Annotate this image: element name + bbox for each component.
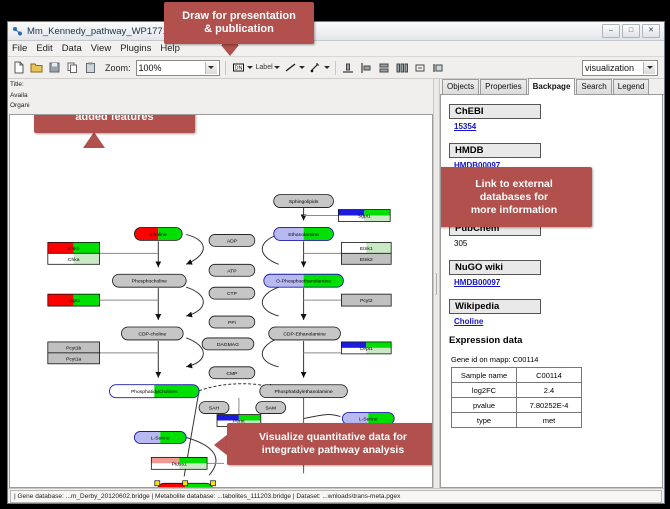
node-cdp-ethanolamine-label: CDP-Ethanolamine: [283, 331, 326, 337]
node-ethanolamine-top-label: Ethanolamine: [288, 232, 319, 238]
gene-pcyt1b-label: Pcyt1b: [66, 345, 81, 351]
menu-item-edit[interactable]: Edit: [35, 43, 53, 54]
node-choline-top[interactable]: Choline: [134, 227, 182, 240]
gene-id-line: Gene id on mapp: C00114: [451, 355, 662, 364]
node-ppi-label: PPi: [228, 320, 236, 326]
row-label: type: [452, 413, 517, 428]
callout-link-db-text: Link to external databases for more info…: [471, 178, 557, 217]
callout-plugins-text: Easily install plugins for added feature…: [51, 114, 178, 124]
backpage-content: ChEBI 15354 HMDB HMDB00097 Kegg Compound…: [440, 95, 663, 488]
node-l-serine-left[interactable]: L-Serine: [134, 431, 186, 443]
selection-handle[interactable]: [211, 481, 216, 486]
chebi-heading: ChEBI: [449, 104, 541, 119]
main-body: Title: Availa Organi: [8, 79, 664, 488]
menu-bar: File Edit Data View Plugins Help: [8, 41, 664, 57]
gene-pcyt2-label: Pcyt2: [360, 298, 373, 304]
minimize-button[interactable]: –: [602, 24, 620, 38]
node-cmp-label: CMP: [226, 371, 238, 377]
pathway-organism-label: Organi: [10, 101, 431, 112]
line-icon[interactable]: [283, 60, 298, 75]
callout-link-db-box: Link to external databases for more info…: [440, 167, 592, 227]
paste-icon[interactable]: [83, 60, 98, 75]
pathvisio-icon: [12, 26, 23, 37]
table-row: log2FC 2.4: [452, 383, 582, 398]
save-icon[interactable]: [47, 60, 62, 75]
callout-link-db: Link to external databases for more info…: [440, 167, 579, 227]
menu-item-data[interactable]: Data: [61, 43, 83, 54]
group-icon[interactable]: [413, 60, 428, 75]
tab-legend[interactable]: Legend: [613, 79, 650, 94]
node-o-phosphoethanolamine[interactable]: O-Phosphoethanolamine: [264, 274, 344, 287]
gene-ptdss1-label: Ptdss1: [172, 461, 187, 467]
pathway-available-label: Availa: [10, 91, 431, 102]
gene-etnk1-label: Etnk1: [360, 246, 373, 252]
zoom-label: Zoom:: [105, 63, 131, 73]
node-l-serine-left-label: L-Serine: [151, 435, 170, 441]
node-choline-top-label: Choline: [150, 232, 167, 238]
callout-draw: Draw for presentation & publication: [164, 2, 314, 44]
node-ctp-label: CTP: [227, 291, 238, 297]
node-sphingolipids-label: Sphingolipids: [289, 199, 319, 205]
node-l-serine-right-label: L-Serine: [359, 417, 378, 423]
svg-text:DN: DN: [234, 66, 242, 72]
tab-backpage[interactable]: Backpage: [528, 78, 576, 95]
gene-chpt1-label: Chpt1: [67, 298, 80, 304]
maximize-button[interactable]: □: [622, 24, 640, 38]
visualization-combo[interactable]: visualization: [582, 60, 658, 76]
expression-data-heading: Expression data: [449, 335, 662, 346]
gene-etnk2-label: Etnk2: [360, 257, 373, 263]
callout-share: Share on Wikipathways.org: [26, 487, 261, 488]
copy-icon[interactable]: [65, 60, 80, 75]
callout-plugins-box: Easily install plugins for added feature…: [34, 114, 195, 133]
label-tool-text: Label: [256, 64, 273, 71]
node-o-phosphoethanolamine-label: O-Phosphoethanolamine: [276, 279, 331, 285]
section-hmdb: HMDB HMDB00097: [449, 140, 662, 170]
toolbar: Zoom: 100% DN Label: [8, 57, 664, 79]
node-dagmag-label: DAGMAG: [217, 342, 239, 348]
pane-splitter[interactable]: [433, 79, 440, 488]
gene-etnk1[interactable]: Etnk1: [341, 242, 391, 253]
callout-visualize-arrow-left-icon: [214, 434, 228, 456]
gene-chkb[interactable]: Chkb: [48, 242, 100, 253]
gene-sgpl1-label: Sgpl1: [358, 214, 371, 220]
pathway-pane: Title: Availa Organi: [8, 79, 433, 488]
wikipedia-heading: Wikipedia: [449, 299, 541, 314]
align-left-icon[interactable]: [359, 60, 374, 75]
node-phosphocholine-label: Phosphocholine: [132, 279, 168, 285]
callout-visualize-text: Visualize quantitative data for integrat…: [259, 431, 407, 457]
gene-chpt1[interactable]: Chpt1: [48, 294, 100, 306]
visualization-value: visualization: [585, 63, 643, 73]
callout-draw-box: Draw for presentation & publication: [164, 2, 314, 44]
wikipedia-link[interactable]: Choline: [454, 317, 662, 326]
line-tool[interactable]: [283, 60, 305, 75]
zoom-value: 100%: [139, 63, 205, 73]
bring-to-front-icon[interactable]: [431, 60, 446, 75]
expression-data-table: Sample name C00114 log2FC 2.4 pvalue 7.8…: [451, 367, 582, 428]
pathvisio-window: Mm_Kennedy_pathway_WP1771_45176.gpml – □…: [7, 21, 665, 504]
menu-item-view[interactable]: View: [90, 43, 112, 54]
node-sah[interactable]: SAH: [199, 402, 229, 414]
close-button[interactable]: ✕: [642, 24, 660, 38]
node-sah-label: SAH: [209, 406, 220, 412]
node-sam-label: SAM: [265, 406, 276, 412]
label-tool[interactable]: Label: [256, 64, 280, 71]
section-chebi: ChEBI 15354: [449, 101, 662, 131]
node-adp[interactable]: ADP: [209, 234, 255, 246]
menu-item-plugins[interactable]: Plugins: [119, 43, 152, 54]
node-sphingolipids[interactable]: Sphingolipids: [274, 195, 334, 208]
open-folder-icon[interactable]: [29, 60, 44, 75]
distribute-horizontal-icon[interactable]: [395, 60, 410, 75]
align-bottom-icon[interactable]: [341, 60, 356, 75]
status-bar: | Gene database: ...m_Derby_20120602.bri…: [8, 488, 664, 503]
node-cdp-choline[interactable]: CDP-choline: [121, 327, 183, 340]
pathway-title-label: Title:: [10, 80, 431, 91]
chevron-down-icon[interactable]: [205, 62, 217, 74]
selection-handle[interactable]: [155, 481, 160, 486]
callout-plugins: Easily install plugins for added feature…: [34, 114, 195, 133]
section-wikipedia: Wikipedia Choline: [449, 296, 662, 326]
callout-visualize-box: Visualize quantitative data for integrat…: [227, 423, 433, 465]
gene-pcyt1b[interactable]: Pcyt1b: [48, 342, 100, 353]
tab-objects[interactable]: Objects: [442, 79, 479, 94]
node-atp[interactable]: ATP: [209, 264, 255, 276]
chebi-link[interactable]: 15354: [454, 122, 662, 131]
gene-pcyt1a[interactable]: Pcyt1a: [48, 353, 100, 364]
node-sam[interactable]: SAM: [256, 402, 286, 414]
gene-etnk2[interactable]: Etnk2: [341, 253, 391, 264]
pathway-info-labels: Title: Availa Organi: [8, 79, 433, 114]
side-panel: Objects Properties Backpage Search Legen…: [440, 79, 664, 488]
node-ethanolamine-top[interactable]: Ethanolamine: [274, 227, 334, 240]
datanode-tool[interactable]: DN: [231, 60, 253, 75]
nugo-heading: NuGO wiki: [449, 260, 541, 275]
gene-cept1[interactable]: Cept1: [341, 342, 391, 354]
node-cdp-choline-label: CDP-choline: [138, 331, 166, 337]
callout-draw-text: Draw for presentation & publication: [182, 10, 296, 36]
toolbar-separator-2: [335, 61, 336, 75]
section-nugo: NuGO wiki HMDB00097: [449, 257, 662, 287]
pubchem-value: 305: [454, 239, 662, 248]
node-phosphatidylcholines-label: Phosphatidylcholines: [131, 389, 178, 395]
gene-cept1-label: Cept1: [360, 346, 373, 352]
row-value: 7.80252E-4: [517, 398, 582, 413]
node-ppi[interactable]: PPi: [209, 316, 255, 328]
menu-item-help[interactable]: Help: [159, 43, 181, 54]
row-label: Sample name: [452, 368, 517, 383]
node-dagmag[interactable]: DAGMAG: [202, 338, 254, 350]
gene-chka[interactable]: Chka: [48, 253, 100, 264]
gene-pcyt2[interactable]: Pcyt2: [341, 294, 391, 306]
tab-search[interactable]: Search: [576, 79, 611, 94]
nugo-link[interactable]: HMDB00097: [454, 278, 662, 287]
node-phosphatidylethanolamine[interactable]: Phosphatidylethanolamine: [260, 385, 348, 398]
selection-handle[interactable]: [183, 481, 188, 486]
status-text: | Gene database: ...m_Derby_20120602.bri…: [10, 490, 662, 503]
hmdb-heading: HMDB: [449, 143, 541, 158]
row-value: 2.4: [517, 383, 582, 398]
pathway-canvas[interactable]: SphingolipidsEthanolamineO-Phosphoethano…: [9, 114, 433, 488]
tab-properties[interactable]: Properties: [480, 79, 526, 94]
callout-visualize: Visualize quantitative data for integrat…: [214, 423, 426, 465]
node-atp-label: ATP: [227, 268, 237, 274]
gene-chka-label: Chka: [68, 257, 80, 263]
visualization-chevron-down-icon[interactable]: [643, 62, 655, 74]
row-label: log2FC: [452, 383, 517, 398]
table-row: pvalue 7.80252E-4: [452, 398, 582, 413]
gene-pcyt1a-label: Pcyt1a: [66, 356, 81, 362]
menu-item-file[interactable]: File: [11, 43, 28, 54]
side-panel-tabs: Objects Properties Backpage Search Legen…: [440, 79, 664, 95]
new-file-icon[interactable]: [11, 60, 26, 75]
row-label: pvalue: [452, 398, 517, 413]
callout-draw-arrow-down-icon: [221, 45, 239, 56]
node-ctp[interactable]: CTP: [209, 287, 255, 299]
node-cdp-ethanolamine[interactable]: CDP-Ethanolamine: [269, 327, 341, 340]
gene-chkb-label: Chkb: [68, 246, 80, 252]
table-row: type met: [452, 413, 582, 428]
zoom-combo[interactable]: 100%: [136, 60, 220, 76]
node-adp-label: ADP: [227, 238, 238, 244]
toolbar-separator: [225, 61, 226, 75]
node-cmp[interactable]: CMP: [209, 367, 255, 379]
datanode-icon[interactable]: DN: [231, 60, 246, 75]
title-bar: Mm_Kennedy_pathway_WP1771_45176.gpml – □…: [8, 22, 664, 41]
gene-sgpl1[interactable]: Sgpl1: [338, 210, 390, 222]
stack-vertical-icon[interactable]: [377, 60, 392, 75]
receptor-tool[interactable]: [308, 60, 330, 75]
node-phosphocholine[interactable]: Phosphocholine: [113, 274, 187, 287]
callout-plugins-arrow-up-icon: [83, 132, 105, 148]
row-value: met: [517, 413, 582, 428]
window-controls: – □ ✕: [602, 24, 660, 38]
node-phosphatidylethanolamine-label: Phosphatidylethanolamine: [274, 389, 333, 395]
gene-ptdss1[interactable]: Ptdss1: [151, 457, 207, 469]
receptor-icon[interactable]: [308, 60, 323, 75]
node-phosphatidylcholines[interactable]: Phosphatidylcholines: [110, 385, 200, 398]
table-row: Sample name C00114: [452, 368, 582, 383]
row-value: C00114: [517, 368, 582, 383]
